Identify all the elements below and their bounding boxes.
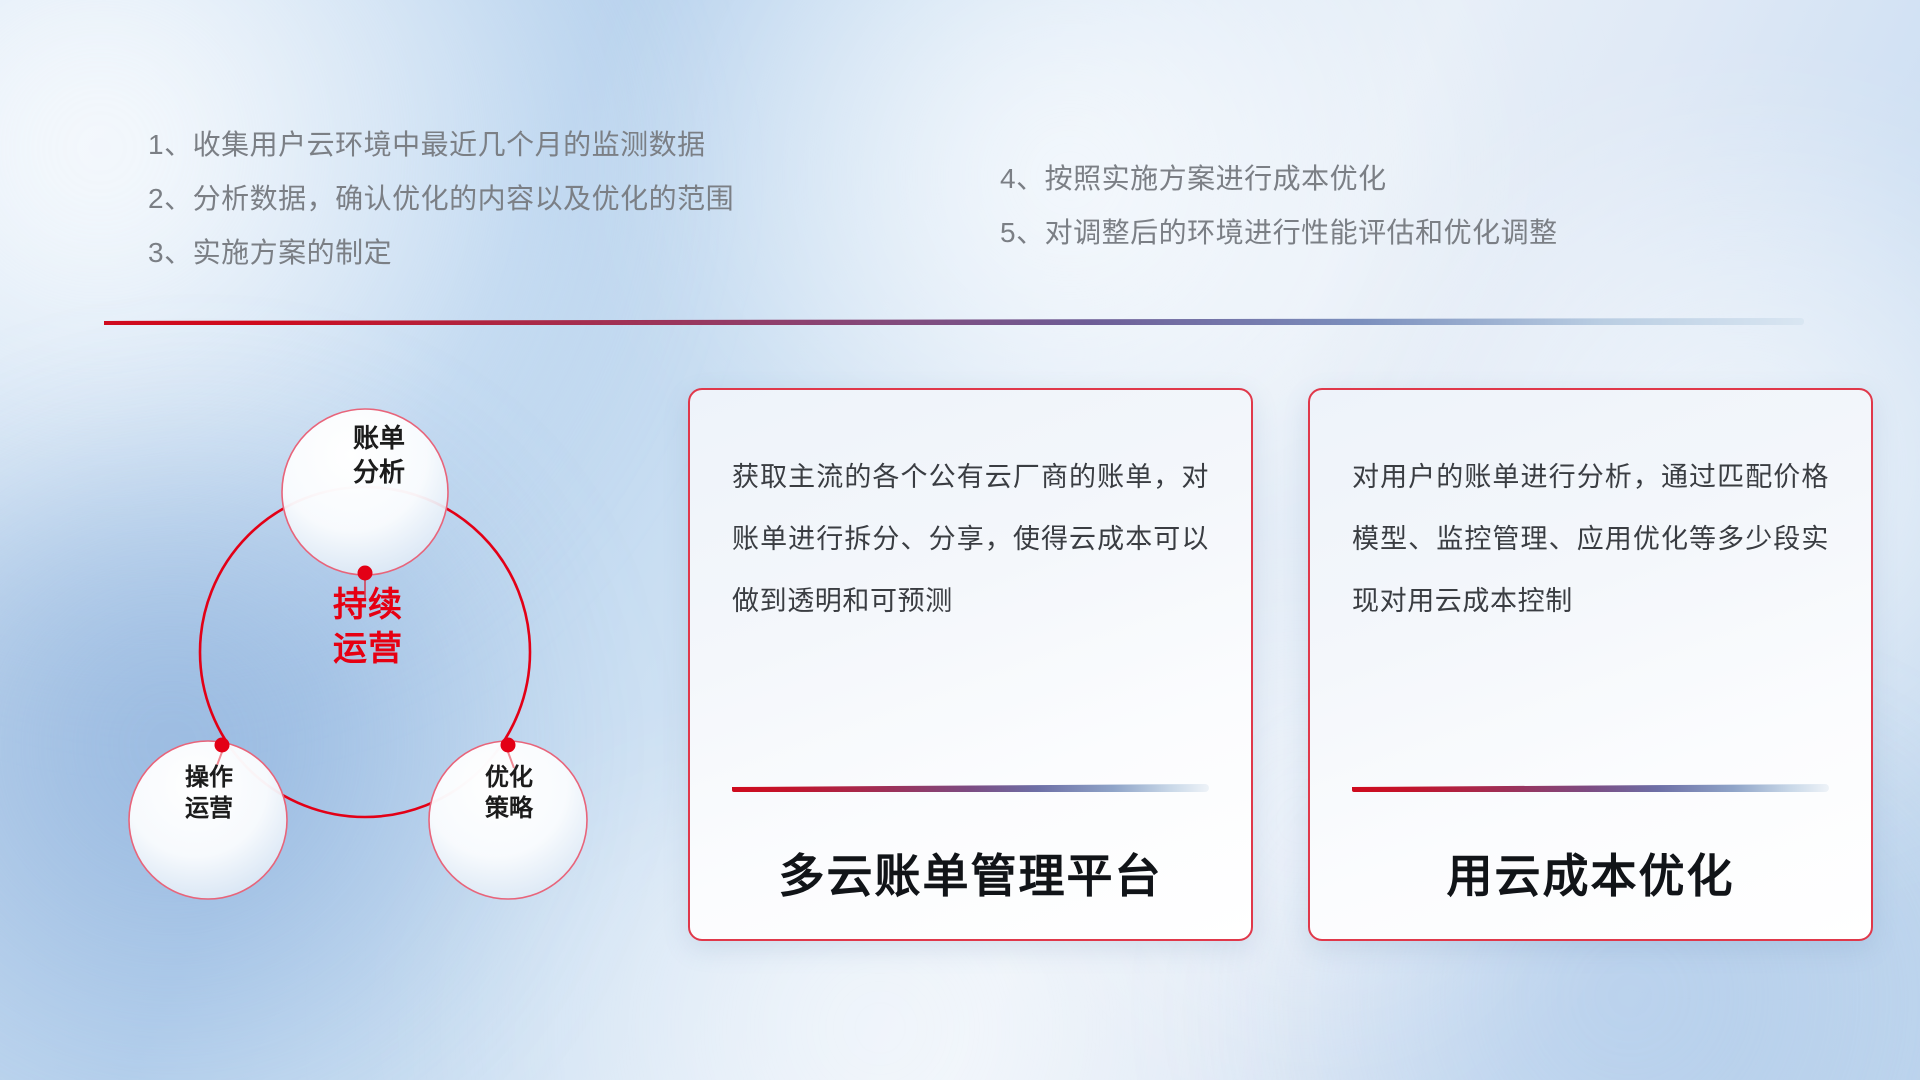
card-body-text: 获取主流的各个公有云厂商的账单，对账单进行拆分、分享，使得云成本可以做到透明和可… bbox=[732, 446, 1209, 718]
venn-bubble-top bbox=[282, 409, 448, 575]
card-body-text: 对用户的账单进行分析，通过匹配价格模型、监控管理、应用优化等多少段实现对用云成本… bbox=[1352, 446, 1829, 718]
bullet-item-5: 5、对调整后的环境进行性能评估和优化调整 bbox=[1000, 206, 1558, 260]
venn-connector-dot-left bbox=[215, 738, 230, 753]
bullet-list-right: 4、按照实施方案进行成本优化 5、对调整后的环境进行性能评估和优化调整 bbox=[1000, 152, 1558, 260]
venn-connector-dot-top bbox=[358, 566, 373, 581]
top-divider-bar bbox=[104, 318, 1804, 325]
bullet-list-left: 1、收集用户云环境中最近几个月的监测数据 2、分析数据，确认优化的内容以及优化的… bbox=[148, 118, 734, 280]
bullet-item-4: 4、按照实施方案进行成本优化 bbox=[1000, 152, 1558, 206]
card-divider-bar bbox=[732, 784, 1209, 792]
venn-bubble-bottom-left bbox=[129, 741, 287, 899]
card-cloud-cost-optimization: 对用户的账单进行分析，通过匹配价格模型、监控管理、应用优化等多少段实现对用云成本… bbox=[1308, 388, 1873, 941]
bullet-item-2: 2、分析数据，确认优化的内容以及优化的范围 bbox=[148, 172, 734, 226]
card-title: 多云账单管理平台 bbox=[732, 840, 1209, 906]
venn-bubble-bottom-right bbox=[429, 741, 587, 899]
card-multi-cloud-billing-platform: 获取主流的各个公有云厂商的账单，对账单进行拆分、分享，使得云成本可以做到透明和可… bbox=[688, 388, 1253, 941]
card-title: 用云成本优化 bbox=[1352, 840, 1829, 906]
venn-diagram: 账单 分析 操作 运营 优化 策略 持续 运营 bbox=[100, 352, 630, 932]
card-divider-bar bbox=[1352, 784, 1829, 792]
venn-connector-dot-right bbox=[501, 738, 516, 753]
slide-canvas: 1、收集用户云环境中最近几个月的监测数据 2、分析数据，确认优化的内容以及优化的… bbox=[0, 0, 1920, 1080]
bullet-item-1: 1、收集用户云环境中最近几个月的监测数据 bbox=[148, 118, 734, 172]
bullet-item-3: 3、实施方案的制定 bbox=[148, 226, 734, 280]
